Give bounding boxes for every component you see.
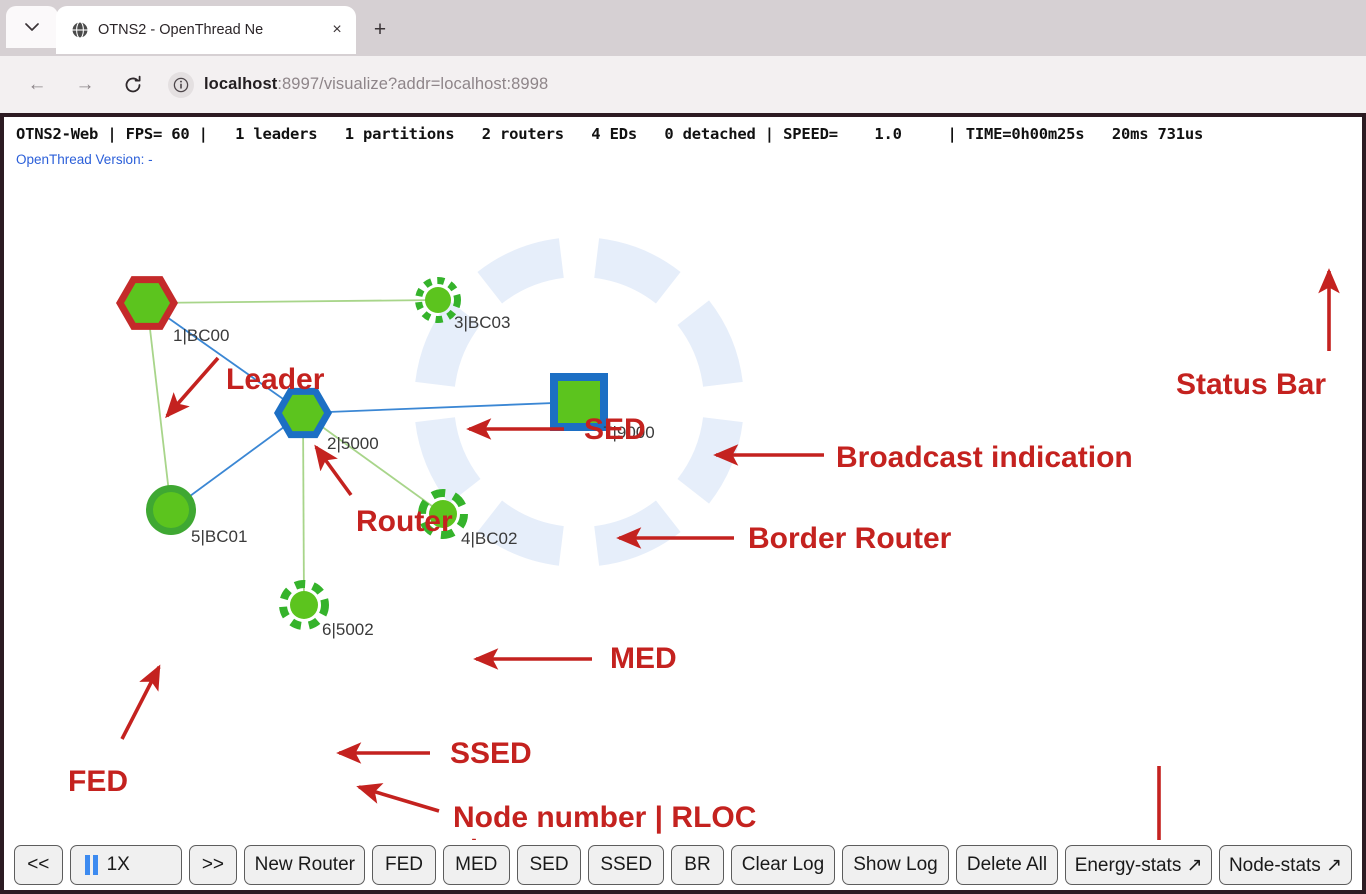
node-link xyxy=(147,303,303,413)
action-bar[interactable]: <<1X>>New RouterFEDMEDSEDSSEDBRClear Log… xyxy=(4,840,1362,890)
add-med-button[interactable]: MED xyxy=(443,845,510,885)
new-tab-button[interactable]: + xyxy=(362,13,398,47)
node-5-fed[interactable]: 5|BC01 xyxy=(146,485,247,546)
node-link xyxy=(147,303,171,510)
tab-strip: OTNS2 - OpenThread Ne × + xyxy=(0,4,1366,56)
step-back-button[interactable]: << xyxy=(14,845,63,885)
url-path: :8997/visualize?addr=localhost:8998 xyxy=(277,75,548,93)
tab-list-menu-button[interactable] xyxy=(6,6,58,48)
network-nodes[interactable]: 1|BC003|BC032|50007|90005|BC014|BC026|50… xyxy=(116,276,655,639)
pause-icon xyxy=(85,855,98,875)
globe-icon xyxy=(70,21,89,40)
add-ssed-button[interactable]: SSED xyxy=(588,845,664,885)
chevron-down-icon xyxy=(25,22,39,32)
broadcast-arc xyxy=(594,238,680,303)
add-fed-button[interactable]: FED xyxy=(372,845,435,885)
url-text: localhost:8997/visualize?addr=localhost:… xyxy=(204,75,548,94)
clear-log-button[interactable]: Clear Log xyxy=(731,845,836,885)
annotation-ssed: SSED xyxy=(450,737,532,770)
node-core xyxy=(153,492,189,528)
status-bar-text: OTNS2-Web | FPS= 60 | 1 leaders 1 partit… xyxy=(16,125,1356,143)
node-core xyxy=(290,591,318,619)
window-right-edge xyxy=(1362,113,1366,894)
node-6-ssed[interactable]: 6|5002 xyxy=(283,584,374,639)
node-1-leader[interactable]: 1|BC00 xyxy=(116,276,229,345)
site-info-icon[interactable] xyxy=(168,72,194,98)
node-link xyxy=(147,300,438,303)
broadcast-arc xyxy=(678,417,743,503)
delete-all-button[interactable]: Delete All xyxy=(956,845,1059,885)
annotation-fed: FED xyxy=(68,765,128,798)
network-topology-canvas[interactable]: 1|BC003|BC032|50007|90005|BC014|BC026|50… xyxy=(4,161,1362,841)
node-link xyxy=(303,402,579,413)
info-glyph xyxy=(173,77,189,93)
browser-chrome: OTNS2 - OpenThread Ne × + ← → xyxy=(0,0,1366,113)
address-bar[interactable]: localhost:8997/visualize?addr=localhost:… xyxy=(162,66,1346,104)
url-host: localhost xyxy=(204,75,277,93)
tab-title: OTNS2 - OpenThread Ne xyxy=(98,22,317,38)
status-bar: OTNS2-Web | FPS= 60 | 1 leaders 1 partit… xyxy=(4,117,1362,167)
annotation-rloc: Node number | RLOC xyxy=(453,801,756,834)
step-forward-button[interactable]: >> xyxy=(189,845,238,885)
close-icon[interactable]: × xyxy=(326,19,348,41)
node-label: 6|5002 xyxy=(322,620,374,639)
show-log-button[interactable]: Show Log xyxy=(842,845,948,885)
arrow-router xyxy=(316,447,351,495)
node-label: 3|BC03 xyxy=(454,313,510,332)
annotation-statusbar: Status Bar xyxy=(1176,368,1326,401)
node-link xyxy=(303,413,304,605)
arrow-rloc xyxy=(359,787,439,811)
node-label: 2|5000 xyxy=(327,434,379,453)
window-bottom-edge xyxy=(0,890,1366,894)
annotation-router: Router xyxy=(356,505,453,538)
back-icon[interactable]: ← xyxy=(18,66,56,104)
new-router-button[interactable]: New Router xyxy=(244,845,365,885)
node-stats-button[interactable]: Node-stats ↗ xyxy=(1219,845,1352,885)
node-label: 1|BC00 xyxy=(173,326,229,345)
broadcast-arc xyxy=(678,300,743,386)
node-label: 4|BC02 xyxy=(461,529,517,548)
speed-toggle-button[interactable]: 1X xyxy=(70,845,182,885)
forward-icon[interactable]: → xyxy=(66,66,104,104)
annotation-br: Border Router xyxy=(748,522,952,555)
screenshot-root: OTNS2 - OpenThread Ne × + ← → xyxy=(0,0,1366,894)
add-sed-button[interactable]: SED xyxy=(517,845,581,885)
annotation-sed: SED xyxy=(584,413,646,446)
add-br-button[interactable]: BR xyxy=(671,845,724,885)
annotation-broadcast: Broadcast indication xyxy=(836,441,1133,474)
annotation-med: MED xyxy=(610,642,677,675)
speed-toggle-label: 1X xyxy=(107,854,130,876)
node-core xyxy=(425,287,451,313)
navigation-bar: ← → localhost:8997/visualize?addr=localh… xyxy=(0,56,1366,113)
broadcast-arc xyxy=(477,238,563,303)
reload-glyph xyxy=(123,75,143,95)
energy-stats-button[interactable]: Energy-stats ↗ xyxy=(1065,845,1212,885)
broadcast-arc xyxy=(594,501,680,566)
annotation-leader: Leader xyxy=(226,363,325,396)
arrow-fed xyxy=(122,667,159,739)
node-label: 5|BC01 xyxy=(191,527,247,546)
browser-tab[interactable]: OTNS2 - OpenThread Ne × xyxy=(56,6,356,54)
otns-web-page: OTNS2-Web | FPS= 60 | 1 leaders 1 partit… xyxy=(4,117,1362,890)
arrow-leader xyxy=(167,358,218,416)
node-2-router[interactable]: 2|5000 xyxy=(274,388,379,453)
reload-icon[interactable] xyxy=(114,66,152,104)
